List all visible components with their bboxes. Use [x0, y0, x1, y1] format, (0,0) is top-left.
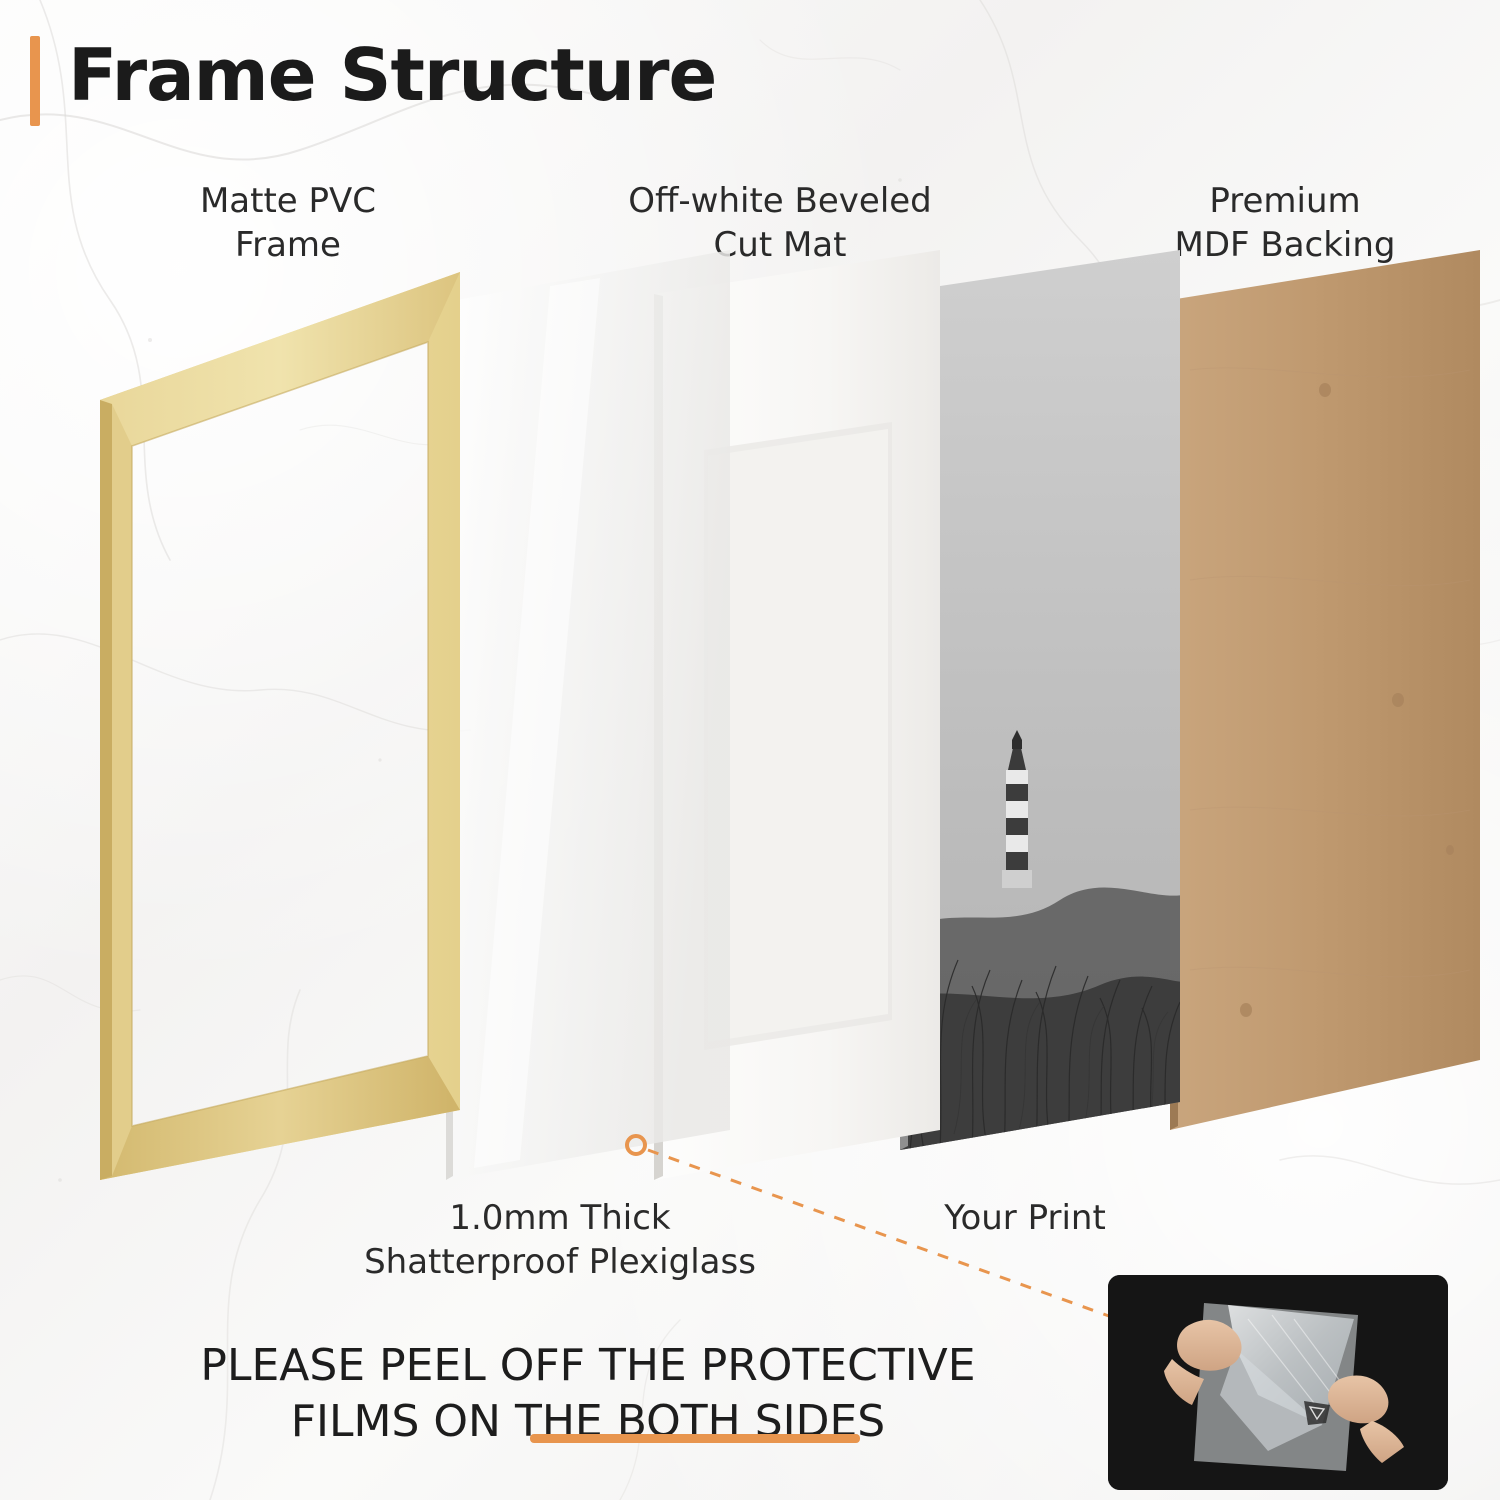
peel-notice: PLEASE PEEL OFF THE PROTECTIVE FILMS ON … [118, 1338, 1058, 1450]
label-frame-line1: Matte PVC [118, 180, 458, 224]
label-mat-line1: Off-white Beveled [545, 180, 1015, 224]
circle-marker-icon [627, 1136, 645, 1154]
label-backing-line1: Premium [1090, 180, 1480, 224]
gold-pvc-frame [60, 250, 480, 1180]
peel-protective-film-photo [1108, 1275, 1448, 1490]
notice-underline-accent [530, 1434, 860, 1443]
accent-bar-icon [30, 36, 40, 126]
page-title: Frame Structure [68, 33, 716, 117]
connector-line [600, 1120, 1160, 1350]
notice-line1: PLEASE PEEL OFF THE PROTECTIVE [118, 1338, 1058, 1394]
mdf-backing [1150, 250, 1480, 1130]
